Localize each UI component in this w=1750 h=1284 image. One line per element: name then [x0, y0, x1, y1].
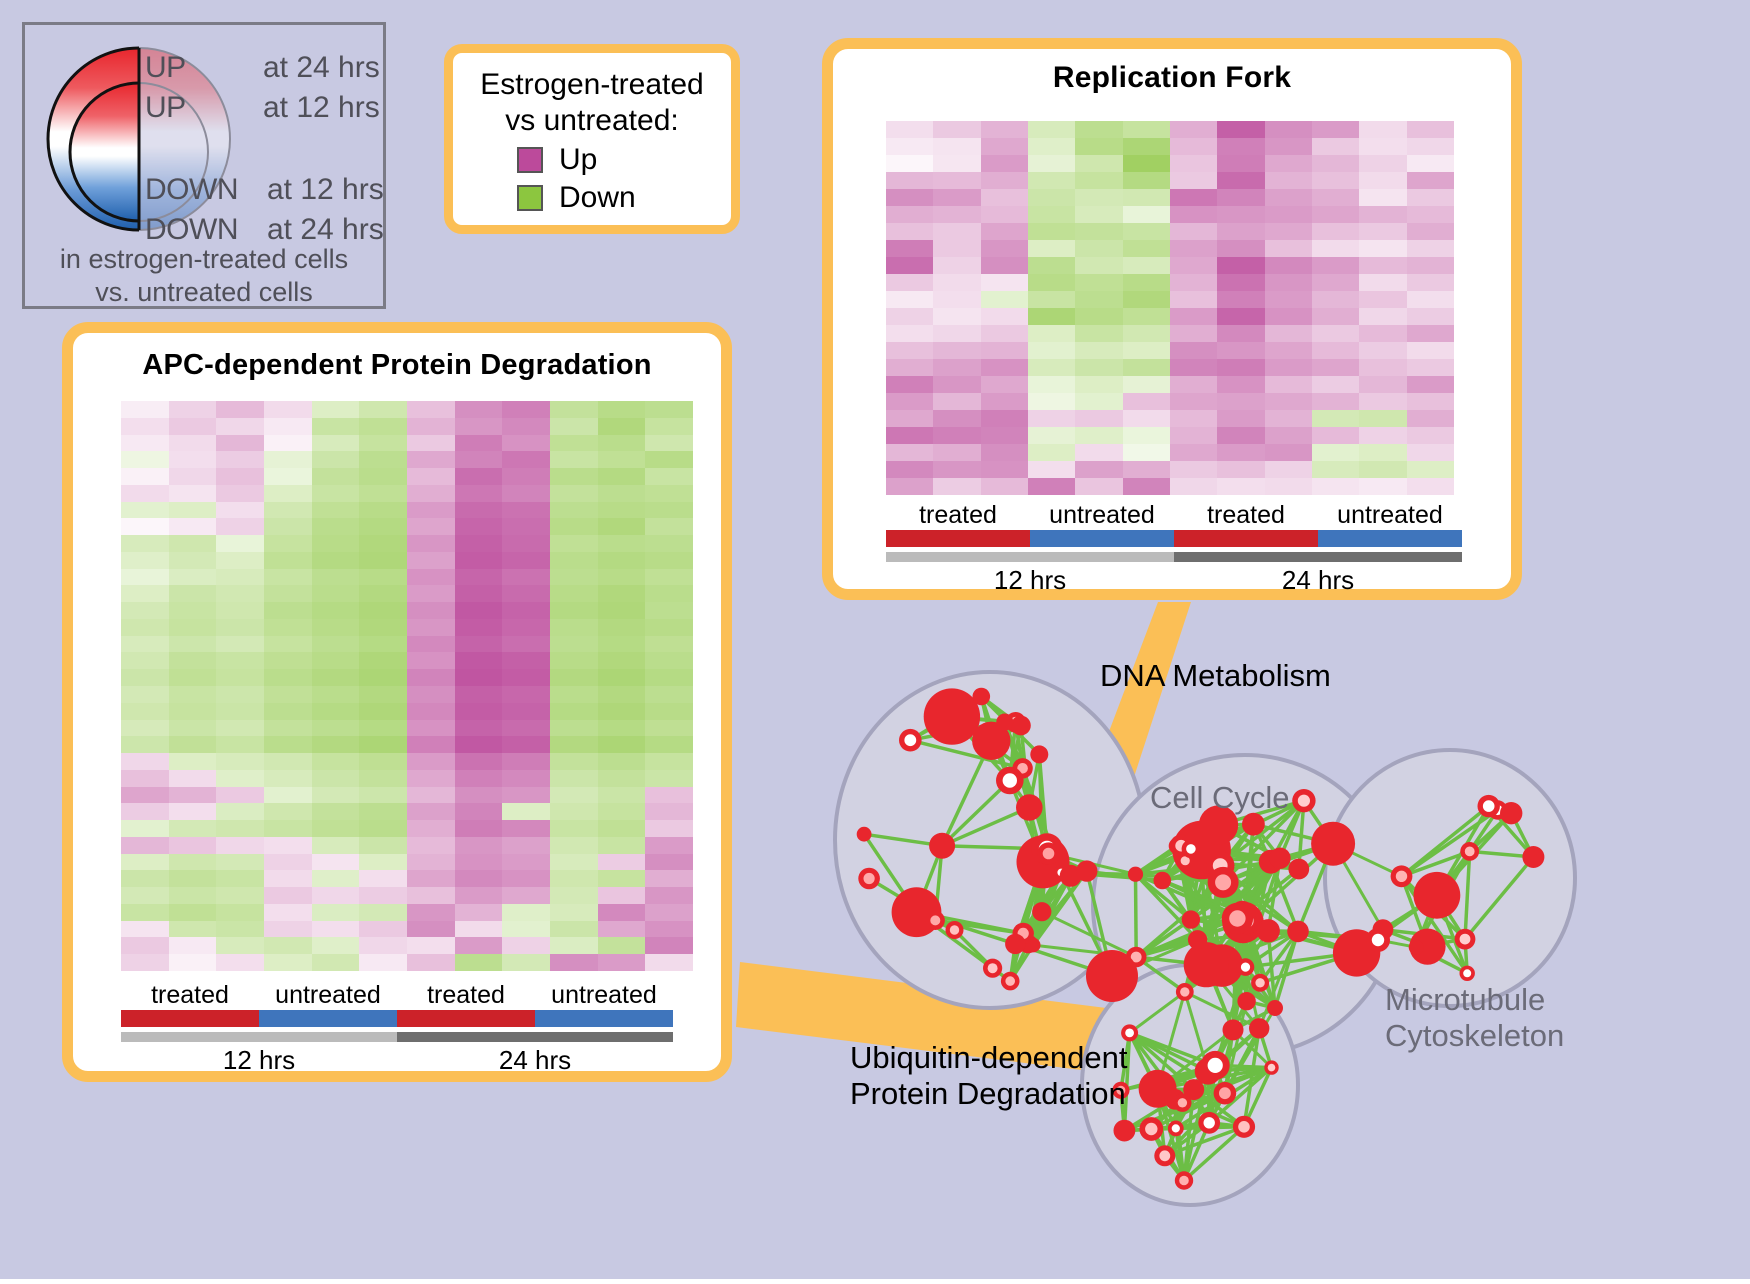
heatmap-cell — [216, 485, 264, 502]
heatmap-cell — [312, 585, 360, 602]
heatmap-cell — [981, 393, 1028, 410]
heatmap-cell — [407, 937, 455, 954]
heatmap-cell — [1407, 155, 1454, 172]
heatmap-cell — [121, 720, 169, 737]
heatmap-cell — [550, 720, 598, 737]
heatmap-cell — [407, 619, 455, 636]
network-node[interactable] — [1264, 1060, 1278, 1074]
network-node[interactable] — [1214, 1082, 1237, 1105]
heatmap-cell — [645, 485, 693, 502]
heatmap-cell — [550, 703, 598, 720]
time-label: 12 hrs — [121, 1045, 397, 1076]
heatmap-cell — [216, 669, 264, 686]
heatmap-cell — [1028, 189, 1075, 206]
heatmap-cell — [1407, 376, 1454, 393]
network-node[interactable] — [1242, 813, 1265, 836]
heatmap-cell — [981, 240, 1028, 257]
condition-color-bar — [886, 530, 1462, 547]
network-node[interactable] — [983, 959, 1002, 978]
heatmap-cell — [169, 887, 217, 904]
heatmap-cell — [407, 921, 455, 938]
network-node[interactable] — [857, 827, 872, 842]
heatmap-cell — [169, 401, 217, 418]
heatmap-cell — [550, 418, 598, 435]
heatmap-cell — [121, 803, 169, 820]
heatmap-cell — [169, 468, 217, 485]
network-node[interactable] — [1139, 1117, 1163, 1141]
heatmap-cell — [169, 418, 217, 435]
heatmap-cell — [312, 535, 360, 552]
legend-title-line2: vs untreated: — [463, 103, 721, 139]
heatmap-cell — [933, 444, 980, 461]
heatmap-cell — [264, 770, 312, 787]
heatmap-cell — [455, 435, 503, 452]
heatmap-cell — [1075, 155, 1122, 172]
heatmap-cell — [359, 552, 407, 569]
heatmap-cell — [359, 535, 407, 552]
heatmap-cell — [981, 291, 1028, 308]
heatmap-cell — [216, 837, 264, 854]
heatmap-cell — [359, 753, 407, 770]
heatmap-cell — [981, 121, 1028, 138]
heatmap-cell — [933, 478, 980, 495]
network-node[interactable] — [1184, 942, 1229, 987]
network-node[interactable] — [1237, 992, 1255, 1010]
heatmap-cell — [933, 240, 980, 257]
heatmap-cell — [359, 435, 407, 452]
condition-bar-segment — [1174, 530, 1318, 547]
network-node[interactable] — [899, 729, 922, 752]
heatmap-cell — [1407, 189, 1454, 206]
heatmap-cell — [264, 435, 312, 452]
heatmap-cell — [455, 887, 503, 904]
heatmap-cell — [981, 359, 1028, 376]
heatmap-cell — [598, 619, 646, 636]
heatmap-cell — [550, 518, 598, 535]
heatmap-cell — [216, 703, 264, 720]
network-node[interactable] — [1251, 974, 1269, 992]
heatmap-cell — [1170, 410, 1217, 427]
heatmap-cell — [264, 468, 312, 485]
heatmap-cell — [502, 954, 550, 971]
heatmap-cell — [216, 652, 264, 669]
heatmap-cell — [502, 652, 550, 669]
network-node[interactable] — [1288, 859, 1309, 880]
heatmap-cell — [550, 435, 598, 452]
heatmap-cell — [550, 770, 598, 787]
key-row: UP at 12 hrs — [145, 91, 395, 131]
heatmap-cell — [407, 787, 455, 804]
heatmap-cell — [1407, 410, 1454, 427]
heatmap-cell — [264, 937, 312, 954]
heatmap-cell — [455, 770, 503, 787]
time-label: 24 hrs — [1174, 565, 1462, 596]
network-node[interactable] — [1269, 848, 1290, 869]
heatmap-cell — [598, 518, 646, 535]
network-node[interactable] — [1030, 745, 1048, 763]
network-node[interactable] — [1001, 972, 1020, 991]
heatmap-cell — [1312, 376, 1359, 393]
heatmap-cell — [598, 703, 646, 720]
network-node[interactable] — [1391, 865, 1413, 887]
heatmap-cell — [264, 720, 312, 737]
heatmap-cell — [886, 478, 933, 495]
heatmap-cell — [1217, 325, 1264, 342]
network-node[interactable] — [1500, 802, 1522, 824]
network-node[interactable] — [1208, 867, 1239, 898]
heatmap-cell — [645, 720, 693, 737]
heatmap-cell — [121, 602, 169, 619]
network-node[interactable] — [1183, 1079, 1204, 1100]
network-node[interactable] — [1460, 966, 1475, 981]
network-node[interactable] — [929, 833, 955, 859]
heatmap-cell — [598, 552, 646, 569]
heatmap-cell — [550, 686, 598, 703]
heatmap-cell — [981, 376, 1028, 393]
heatmap-cell — [550, 904, 598, 921]
condition-label: untreated — [1030, 501, 1174, 530]
network-node[interactable] — [1016, 794, 1043, 821]
network-node[interactable] — [1128, 867, 1143, 882]
heatmap-cell — [1028, 342, 1075, 359]
heatmap-cell — [169, 636, 217, 653]
heatmap-cell — [312, 652, 360, 669]
heatmap-cell — [121, 870, 169, 887]
network-node[interactable] — [1182, 840, 1201, 859]
heatmap-cell — [1170, 189, 1217, 206]
heatmap-cell — [1170, 121, 1217, 138]
condition-label: treated — [1174, 501, 1318, 530]
heatmap-cell — [455, 720, 503, 737]
heatmap-cell — [359, 736, 407, 753]
heatmap-cell — [1407, 240, 1454, 257]
heatmap-cell — [645, 954, 693, 971]
heatmap-cell — [264, 619, 312, 636]
heatmap-cell — [1123, 308, 1170, 325]
heatmap-cell — [1217, 121, 1264, 138]
heatmap-cell — [598, 652, 646, 669]
heatmap-cell — [645, 787, 693, 804]
heatmap-cell — [455, 518, 503, 535]
heatmap-cell — [1170, 325, 1217, 342]
heatmap-cell — [121, 652, 169, 669]
heatmap-cell — [1265, 172, 1312, 189]
heatmap-cell — [1028, 478, 1075, 495]
network-node[interactable] — [996, 767, 1024, 795]
heatmap-cell — [1217, 427, 1264, 444]
heatmap-cell — [455, 703, 503, 720]
heatmap-cell — [216, 803, 264, 820]
network-node[interactable] — [1522, 846, 1544, 868]
heatmap-cell — [455, 401, 503, 418]
network-node[interactable] — [996, 714, 1013, 731]
heatmap-cell — [455, 904, 503, 921]
heatmap-cell — [1359, 478, 1406, 495]
network-node[interactable] — [1201, 1051, 1230, 1080]
network-node[interactable] — [1414, 872, 1461, 919]
heatmap-cell — [1075, 461, 1122, 478]
network-node[interactable] — [1311, 822, 1355, 866]
heatmap-cell — [1217, 274, 1264, 291]
network-node[interactable] — [1223, 1019, 1244, 1040]
heatmap-cell — [886, 444, 933, 461]
heatmap-cell — [1312, 172, 1359, 189]
key-caption-line1: in estrogen-treated cells — [25, 243, 383, 276]
heatmap-cell — [216, 636, 264, 653]
heatmap-cell — [1028, 206, 1075, 223]
heatmap-cell — [121, 669, 169, 686]
heatmap-cell — [598, 669, 646, 686]
heatmap-cell — [455, 485, 503, 502]
heatmap-cell — [550, 502, 598, 519]
heatmap-cell — [1123, 172, 1170, 189]
heatmap-cell — [216, 887, 264, 904]
heatmap-cell — [1359, 138, 1406, 155]
heatmap-cell — [502, 418, 550, 435]
heatmap-cell — [502, 602, 550, 619]
heatmap-cell — [1312, 155, 1359, 172]
heatmap-cell — [359, 837, 407, 854]
heatmap-cell — [1123, 376, 1170, 393]
network-node[interactable] — [926, 911, 945, 930]
network-node[interactable] — [1182, 910, 1200, 928]
heatmap-cell — [1359, 206, 1406, 223]
network-node[interactable] — [1086, 950, 1138, 1002]
heatmap-cell — [121, 770, 169, 787]
heatmap-cell — [121, 552, 169, 569]
network-node[interactable] — [1005, 934, 1025, 954]
network-node[interactable] — [1257, 919, 1280, 942]
heatmap-cell — [1217, 172, 1264, 189]
cluster-label-microtubule-cytoskeleton: Microtubule Cytoskeleton — [1385, 982, 1564, 1054]
heatmap-cell — [933, 189, 980, 206]
heatmap-cell — [1123, 444, 1170, 461]
condition-bar-segment — [1030, 530, 1174, 547]
heatmap-cell — [312, 602, 360, 619]
heatmap-cell — [407, 770, 455, 787]
heatmap-cell — [1265, 461, 1312, 478]
heatmap-cell — [1123, 138, 1170, 155]
condition-label: treated — [397, 981, 535, 1010]
heatmap-cell — [598, 636, 646, 653]
network-node[interactable] — [1011, 716, 1031, 736]
heatmap-cell — [264, 736, 312, 753]
key-row: DOWN at 12 hrs — [145, 173, 395, 213]
heatmap-cell — [216, 736, 264, 753]
heatmap-cell — [598, 820, 646, 837]
network-node[interactable] — [1175, 1171, 1193, 1189]
network-node[interactable] — [858, 868, 880, 890]
panel-replication-fork: Replication Fork treated untreated treat… — [822, 38, 1522, 600]
heatmap-cell — [264, 418, 312, 435]
heatmap-cell — [455, 954, 503, 971]
heatmap-cell — [359, 451, 407, 468]
heatmap-cell — [598, 535, 646, 552]
heatmap-cell — [1407, 206, 1454, 223]
heatmap-cell — [1312, 410, 1359, 427]
network-node[interactable] — [946, 921, 964, 939]
heatmap-cell — [645, 569, 693, 586]
heatmap-cell — [1359, 223, 1406, 240]
heatmap-cell — [264, 401, 312, 418]
heatmap-cell — [550, 921, 598, 938]
heatmap-cell — [645, 435, 693, 452]
heatmap-cell — [121, 736, 169, 753]
heatmap-cell — [1359, 172, 1406, 189]
heatmap-cell — [121, 854, 169, 871]
heatmap-cell — [502, 736, 550, 753]
heatmap-cell — [312, 753, 360, 770]
heatmap-cell — [598, 686, 646, 703]
heatmap-cell — [502, 569, 550, 586]
network-node[interactable] — [1267, 1000, 1283, 1016]
heatmap-cell — [886, 206, 933, 223]
network-node[interactable] — [1233, 1116, 1255, 1138]
heatmap-cell — [1359, 410, 1406, 427]
heatmap-cell — [312, 418, 360, 435]
network-node[interactable] — [1478, 795, 1500, 817]
heatmap-cell — [169, 837, 217, 854]
heatmap-cell — [1312, 291, 1359, 308]
network-node[interactable] — [924, 688, 980, 744]
heatmap-cell — [264, 552, 312, 569]
heatmap-cell — [550, 837, 598, 854]
heatmap-cell — [169, 451, 217, 468]
heatmap-cell — [264, 585, 312, 602]
heatmap-cell — [933, 410, 980, 427]
network-node[interactable] — [1222, 903, 1253, 934]
heatmap-cell — [598, 435, 646, 452]
network-node[interactable] — [1460, 842, 1479, 861]
heatmap-cell — [455, 451, 503, 468]
heatmap-cell — [981, 427, 1028, 444]
heatmap-cell — [502, 401, 550, 418]
cluster-label-cell-cycle: Cell Cycle — [1150, 780, 1290, 816]
heatmap-cell — [933, 138, 980, 155]
network-node[interactable] — [1114, 1120, 1136, 1142]
heatmap-cell — [216, 770, 264, 787]
heatmap-cell — [312, 921, 360, 938]
heatmap-cell — [1170, 155, 1217, 172]
heatmap-cell — [886, 427, 933, 444]
heatmap-cell — [264, 703, 312, 720]
legend-item-up: Up — [517, 143, 721, 177]
heatmap-cell — [1359, 189, 1406, 206]
condition-labels-row: treated untreated treated untreated — [121, 981, 673, 1010]
network-node[interactable] — [1037, 842, 1059, 864]
network-node[interactable] — [1455, 929, 1476, 950]
heatmap-cell — [264, 485, 312, 502]
network-node[interactable] — [1032, 902, 1051, 921]
heatmap-cell — [359, 954, 407, 971]
heatmap-cell — [1217, 308, 1264, 325]
time-bar-segment — [397, 1032, 673, 1042]
heatmap-cell — [1170, 206, 1217, 223]
heatmap-cell — [455, 803, 503, 820]
network-node[interactable] — [1076, 860, 1097, 881]
heatmap-cell — [407, 435, 455, 452]
heatmap-cell — [455, 652, 503, 669]
heatmap-cell — [407, 585, 455, 602]
heatmap-cell — [264, 602, 312, 619]
heatmap-cell — [886, 342, 933, 359]
network-node[interactable] — [1121, 1024, 1138, 1041]
heatmap-cell — [216, 954, 264, 971]
heatmap-cell — [1075, 342, 1122, 359]
heatmap-cell — [455, 787, 503, 804]
network-node[interactable] — [1188, 930, 1207, 949]
cluster-label-dna-metabolism: DNA Metabolism — [1100, 658, 1331, 694]
network-node[interactable] — [1366, 928, 1390, 952]
network-node[interactable] — [1237, 958, 1255, 976]
heatmap-cell — [1265, 189, 1312, 206]
heatmap-cell — [598, 720, 646, 737]
heatmap-cell — [455, 418, 503, 435]
heatmap-cell — [169, 736, 217, 753]
heatmap-cell — [359, 921, 407, 938]
heatmap-cell — [121, 636, 169, 653]
network-node[interactable] — [1154, 1145, 1175, 1166]
network-node[interactable] — [1168, 1121, 1184, 1137]
heatmap-cell — [1407, 427, 1454, 444]
heatmap-cell — [550, 552, 598, 569]
heatmap-cell — [1312, 359, 1359, 376]
heatmap-cell — [1407, 121, 1454, 138]
heatmap-cell — [1217, 359, 1264, 376]
heatmap-cell — [121, 921, 169, 938]
heatmap-cell — [359, 770, 407, 787]
key-caption: in estrogen-treated cells vs. untreated … — [25, 243, 383, 309]
heatmap-cell — [121, 401, 169, 418]
heatmap-cell — [1170, 257, 1217, 274]
heatmap-cell — [1312, 461, 1359, 478]
heatmap-cell — [550, 619, 598, 636]
network-node[interactable] — [973, 688, 991, 706]
key-direction-label: DOWN — [145, 213, 263, 247]
heatmap-cell — [933, 325, 980, 342]
heatmap-cell — [216, 870, 264, 887]
heatmap-cell — [1312, 478, 1359, 495]
heatmap-cell — [1217, 291, 1264, 308]
heatmap-cell — [1028, 427, 1075, 444]
heatmap-cell — [121, 703, 169, 720]
heatmap-cell — [1407, 274, 1454, 291]
heatmap-cell — [169, 720, 217, 737]
heatmap-cell — [1123, 291, 1170, 308]
heatmap-cell — [933, 359, 980, 376]
heatmap-cell — [312, 820, 360, 837]
network-node[interactable] — [1292, 789, 1315, 812]
heatmap-cell — [216, 720, 264, 737]
network-node[interactable] — [1198, 1112, 1220, 1134]
network-node[interactable] — [1287, 921, 1309, 943]
heatmap-cell — [1359, 121, 1406, 138]
network-node[interactable] — [1176, 983, 1194, 1001]
heatmap-cell — [121, 468, 169, 485]
network-node[interactable] — [1409, 940, 1424, 955]
figure-canvas: UP at 24 hrs UP at 12 hrs DOWN at 12 hrs… — [0, 0, 1750, 1279]
heatmap-cell — [359, 585, 407, 602]
heatmap-cell — [121, 585, 169, 602]
network-node[interactable] — [1154, 872, 1172, 890]
heatmap-cell — [1265, 121, 1312, 138]
heatmap-cell — [1407, 223, 1454, 240]
heatmap-cell — [1217, 393, 1264, 410]
heatmap-cell — [1170, 308, 1217, 325]
heatmap-cell — [312, 451, 360, 468]
network-node[interactable] — [1249, 1018, 1269, 1038]
heatmap-cell — [645, 636, 693, 653]
